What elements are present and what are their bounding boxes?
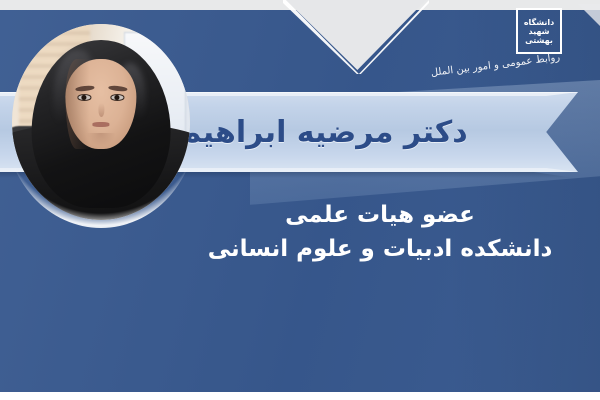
chin-shade	[87, 133, 115, 146]
mouth	[92, 122, 109, 127]
nose	[98, 103, 104, 117]
person-role-line-2: دانشکده ادبیات و علوم انسانی	[170, 232, 590, 266]
pupil-right	[115, 95, 120, 100]
bottom-white-strip	[0, 392, 600, 400]
eyebrow-right	[108, 85, 127, 91]
person-role-block: عضو هیات علمی دانشکده ادبیات و علوم انسا…	[170, 198, 590, 266]
logo-square-mark: دانشگاه شهید بهشتی	[516, 8, 562, 54]
faculty-profile-card: دکتر مرضیه ابراهیمی عضو هیات علمی دانشکد…	[0, 0, 600, 400]
portrait-image	[12, 24, 190, 220]
logo-mark-text: دانشگاه شهید بهشتی	[521, 13, 557, 49]
pupil-left	[82, 95, 87, 100]
university-logo: دانشگاه شهید بهشتی روابط عمومی و امور بی…	[476, 8, 562, 86]
logo-script-text: روابط عمومی و امور بین الملل	[476, 52, 561, 73]
person-role-line-1: عضو هیات علمی	[170, 198, 590, 232]
portrait	[5, 16, 197, 228]
